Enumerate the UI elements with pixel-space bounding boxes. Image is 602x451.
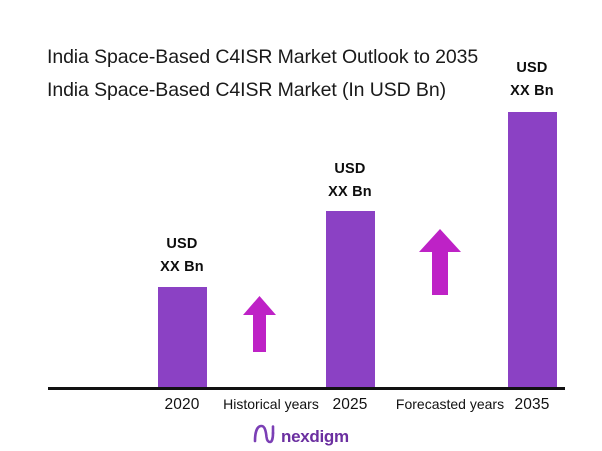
- bar-2025: [326, 211, 375, 387]
- brand-name: nexdigm: [281, 427, 349, 447]
- x-tick-2025: 2025: [310, 396, 390, 414]
- bar-value-label-2025-line2: XX Bn: [305, 181, 395, 204]
- bar-value-label-2020: USD XX Bn: [137, 233, 227, 279]
- growth-arrow-historical-icon: [243, 296, 276, 352]
- brand-logo: nexdigm: [253, 424, 349, 449]
- x-axis-line: [48, 387, 565, 390]
- bar-2020: [158, 287, 207, 387]
- x-tick-2020: 2020: [142, 396, 222, 414]
- bar-value-label-2020-line2: XX Bn: [137, 256, 227, 279]
- plot-area: USD XX Bn USD XX Bn USD XX Bn 2020 Histo…: [0, 0, 602, 451]
- x-tick-2035: 2035: [492, 396, 572, 414]
- bar-value-label-2020-line1: USD: [137, 233, 227, 256]
- growth-arrow-forecast-icon: [419, 229, 461, 295]
- bar-2035: [508, 112, 557, 387]
- chart-canvas: India Space-Based C4ISR Market Outlook t…: [0, 0, 602, 451]
- bar-value-label-2035-line1: USD: [487, 57, 577, 80]
- nexdigm-wave-icon: [253, 424, 275, 449]
- bar-value-label-2035: USD XX Bn: [487, 57, 577, 103]
- bar-value-label-2025-line1: USD: [305, 158, 395, 181]
- bar-value-label-2035-line2: XX Bn: [487, 80, 577, 103]
- bar-value-label-2025: USD XX Bn: [305, 158, 395, 204]
